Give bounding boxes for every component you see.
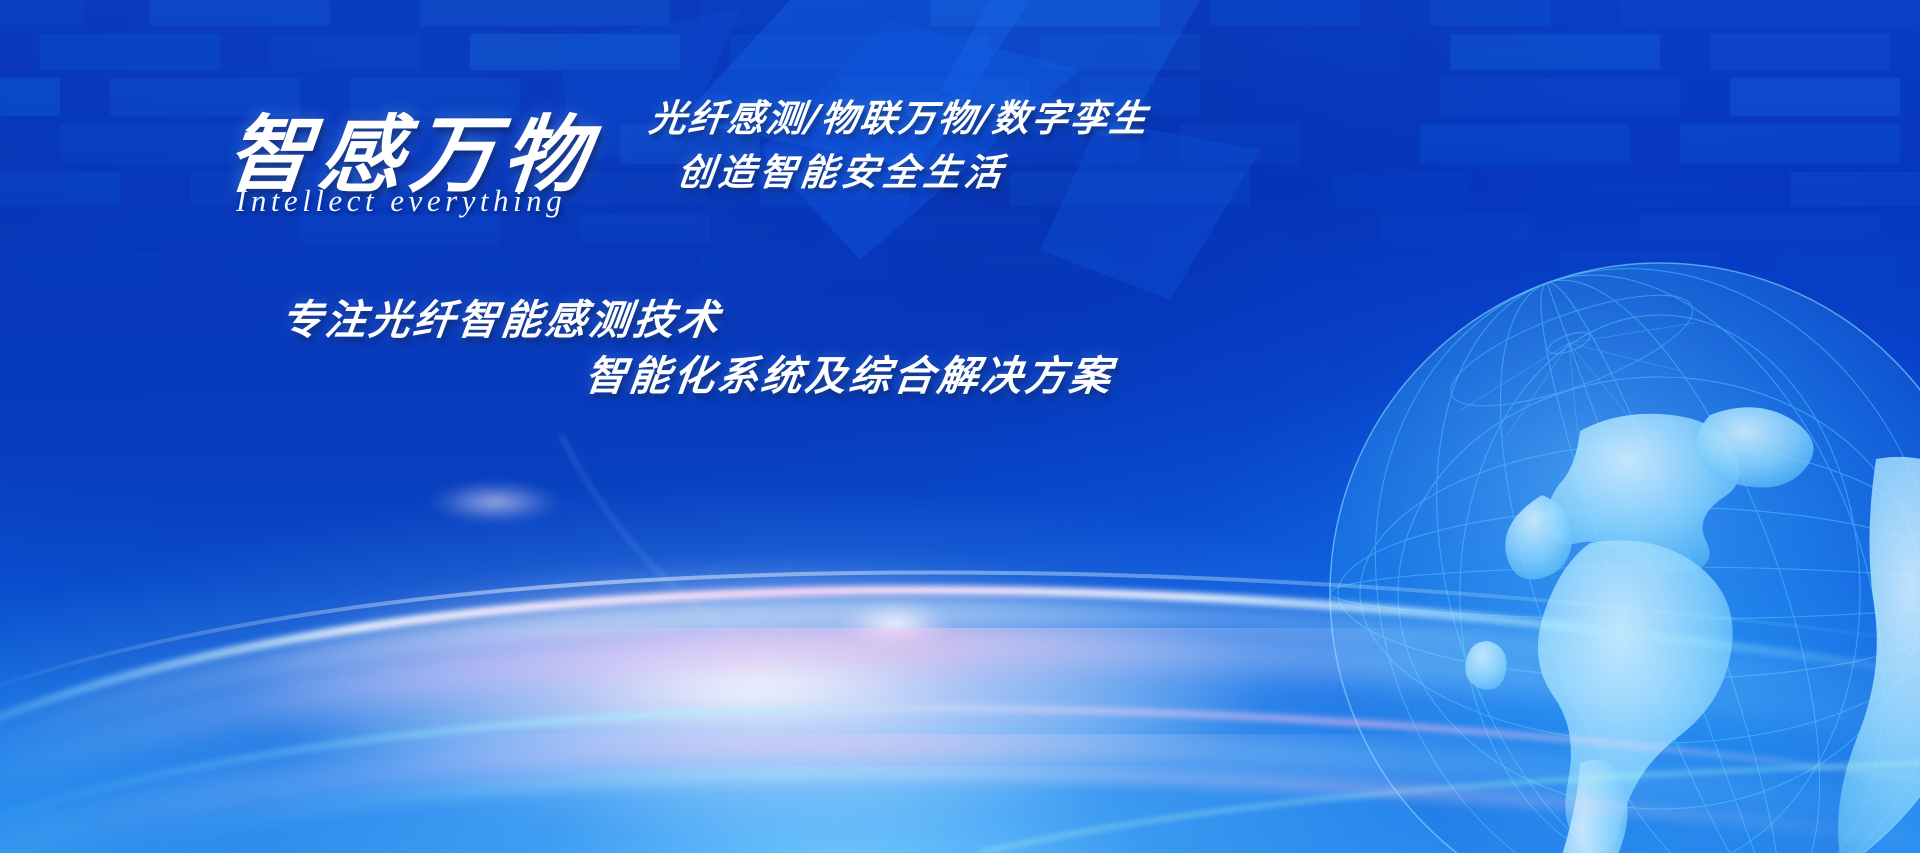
light-streak-graphic — [0, 433, 1920, 853]
tech-grid-cell — [0, 0, 86, 26]
tech-grid-cell — [1790, 172, 1920, 206]
tech-grid-cell — [1430, 0, 1550, 26]
tech-grid-cell — [90, 214, 250, 244]
tech-grid-cell — [1330, 172, 1470, 206]
subheading-line-2: 智能化系统及综合解决方案 — [582, 342, 1117, 402]
slogan-line-1: 光纤感测/物联万物/数字孪生 — [647, 88, 1153, 142]
tech-grid-cell — [1620, 0, 1920, 26]
tech-grid-cell — [1540, 172, 1730, 206]
tech-grid-cell — [1680, 124, 1900, 164]
tech-grid-cell — [1730, 78, 1900, 116]
tech-grid-cell — [0, 78, 60, 116]
subheading-line-1: 专注光纤智能感测技术 — [278, 286, 725, 346]
tech-grid-cell — [0, 172, 120, 206]
slogan-line-2: 创造智能安全生活 — [675, 142, 1010, 196]
page-title-english: Intellect everything — [236, 183, 566, 219]
tech-grid-cell — [40, 34, 220, 70]
tech-grid-cell — [1420, 124, 1630, 164]
tech-grid-cell — [1440, 78, 1680, 116]
tech-grid-cell — [1640, 214, 1880, 244]
tech-grid-cell — [150, 0, 330, 26]
tech-grid-cell — [1710, 34, 1890, 70]
tech-grid-cell — [1450, 34, 1660, 70]
tech-grid-cell — [230, 252, 410, 280]
tech-grid-cell — [20, 252, 160, 280]
hero-banner: 智感万物 Intellect everything 光纤感测/物联万物/数字孪生… — [0, 0, 1920, 853]
tech-grid-cell — [270, 34, 420, 70]
tech-grid-cell — [1380, 214, 1530, 244]
